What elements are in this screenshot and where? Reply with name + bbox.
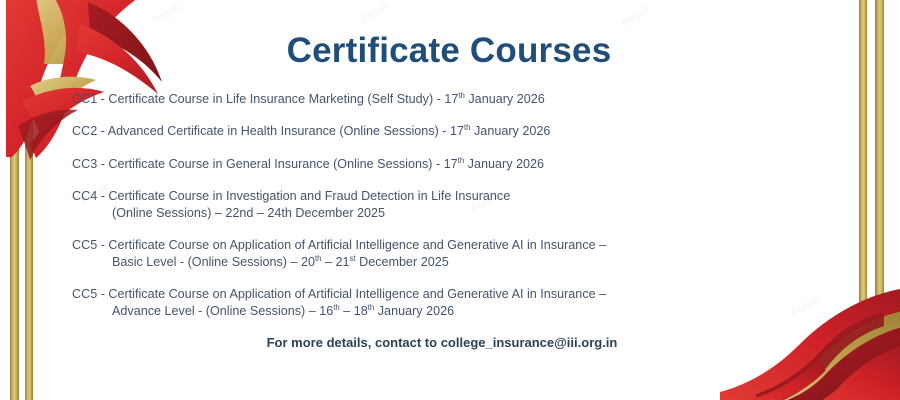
course-line1-date: January 2026: [465, 92, 545, 106]
course-line2: Advance Level - (Online Sessions) – 16th…: [72, 303, 852, 320]
course-line1-text: CC4 - Certificate Course in Investigatio…: [72, 189, 510, 203]
course-line2-text: (Online Sessions) – 22nd – 24th December…: [72, 205, 852, 222]
page-title: Certificate Courses: [46, 32, 852, 71]
course-item-cc4: CC4 - Certificate Course in Investigatio…: [72, 188, 852, 221]
gold-bar-left-inner: [25, 0, 33, 400]
contact-info: For more details, contact to college_ins…: [46, 335, 852, 350]
course-line2-date: December 2025: [356, 255, 449, 269]
certificate-courses-poster: freepik freepik freepik freepik freepik …: [0, 0, 900, 400]
course-line2-mid: – 21: [322, 255, 350, 269]
course-line2: Basic Level - (Online Sessions) – 20th –…: [72, 254, 852, 271]
course-list: CC1 - Certificate Course in Life Insuran…: [46, 91, 852, 320]
course-line2-text: Basic Level - (Online Sessions) – 20: [112, 255, 315, 269]
course-item-cc5-basic: CC5 - Certificate Course on Application …: [72, 237, 852, 270]
course-line1-text: CC3 - Certificate Course in General Insu…: [72, 157, 458, 171]
course-line1-text: CC5 - Certificate Course on Application …: [72, 238, 606, 252]
course-line2-mid: – 18: [340, 304, 368, 318]
course-item-cc2: CC2 - Advanced Certificate in Health Ins…: [72, 123, 852, 140]
gold-bar-right-inner: [859, 0, 867, 400]
course-line2-date: January 2026: [374, 304, 454, 318]
course-item-cc3: CC3 - Certificate Course in General Insu…: [72, 156, 852, 173]
gold-bar-right-outer: [875, 0, 884, 400]
course-line1-text: CC1 - Certificate Course in Life Insuran…: [72, 92, 458, 106]
course-line2-text: Advance Level - (Online Sessions) – 16: [112, 304, 333, 318]
course-item-cc5-advance: CC5 - Certificate Course on Application …: [72, 286, 852, 319]
course-item-cc1: CC1 - Certificate Course in Life Insuran…: [72, 91, 852, 108]
course-line1-text: CC5 - Certificate Course on Application …: [72, 287, 606, 301]
course-line1-date: January 2026: [464, 157, 544, 171]
course-line1-date: January 2026: [471, 124, 551, 138]
course-line1-text: CC2 - Advanced Certificate in Health Ins…: [72, 124, 464, 138]
poster-content: Certificate Courses CC1 - Certificate Co…: [46, 0, 852, 400]
gold-bar-left-outer: [10, 0, 19, 400]
